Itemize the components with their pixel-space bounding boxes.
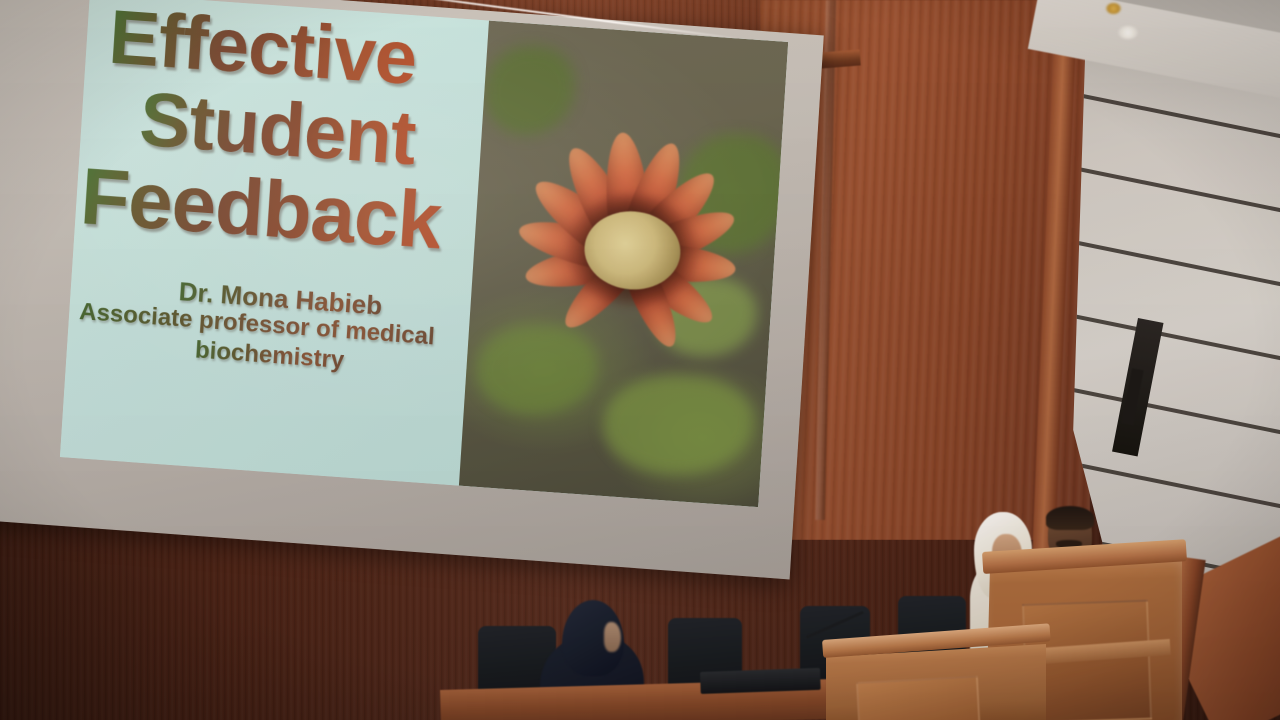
slide-flower-photo (459, 21, 788, 507)
panel-wall-gap (1064, 82, 1280, 152)
speaker-right-hair (1046, 506, 1094, 530)
lecture-hall-photo: Effective Student Feedback Dr. Mona Habi… (0, 0, 1280, 720)
panel-wall-gap (1064, 378, 1280, 448)
laptop (700, 668, 821, 694)
slide-text-panel: Effective Student Feedback Dr. Mona Habi… (60, 0, 499, 486)
panel-wall-gap (1064, 304, 1280, 374)
projection-screen: Effective Student Feedback Dr. Mona Habi… (0, 0, 826, 534)
panel-wall-gap (1064, 156, 1280, 226)
flower-petals (493, 75, 788, 96)
podium-foreground-panel (856, 676, 980, 720)
amber-downlight-icon (1106, 3, 1121, 14)
attendee-face (604, 622, 621, 652)
panel-wall-gap (1064, 230, 1280, 300)
presentation-slide: Effective Student Feedback Dr. Mona Habi… (60, 0, 788, 507)
white-downlight-icon (1118, 26, 1138, 39)
gazania-flower-icon (472, 75, 788, 426)
